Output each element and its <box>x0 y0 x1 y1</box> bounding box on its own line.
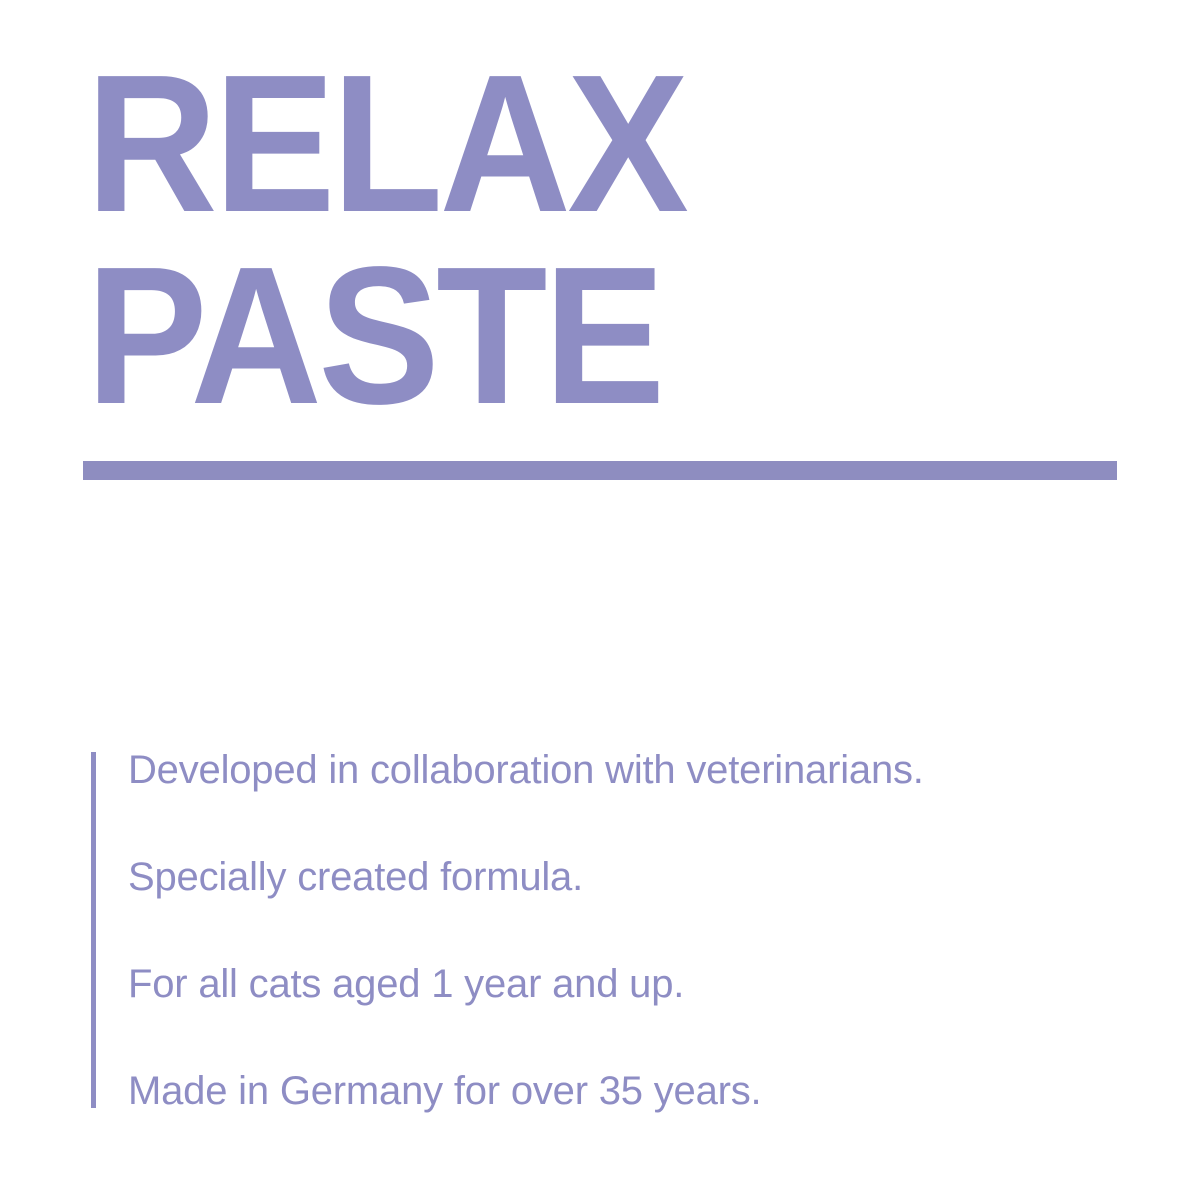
list-item: Specially created formula. <box>128 855 583 899</box>
title-divider <box>83 461 1117 480</box>
feature-list: Developed in collaboration with veterina… <box>96 752 1151 1108</box>
page-title: RELAX PASTE <box>86 48 1126 432</box>
page-title-line-1: RELAX <box>86 48 1053 240</box>
list-item: Made in Germany for over 35 years. <box>128 1069 761 1113</box>
product-info-card: RELAX PASTE Developed in collaboration w… <box>0 0 1200 1200</box>
page-title-line-2: PASTE <box>86 240 1053 432</box>
list-item: For all cats aged 1 year and up. <box>128 962 684 1006</box>
feature-list-container: Developed in collaboration with veterina… <box>91 752 1151 1108</box>
list-item: Developed in collaboration with veterina… <box>128 748 924 792</box>
